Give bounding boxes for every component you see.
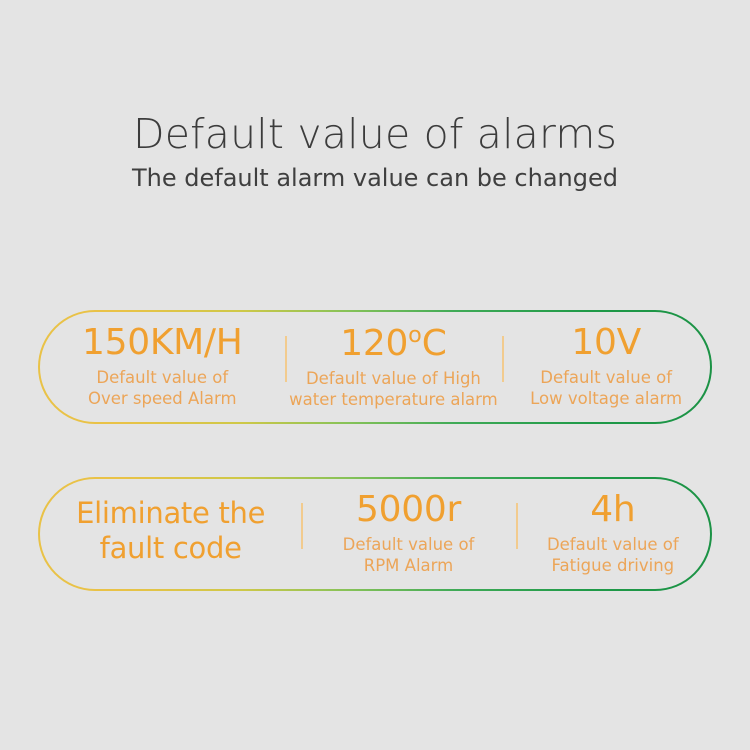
card-alarm-defaults-inner: 150KM/H Default value of Over speed Alar… <box>40 312 710 422</box>
stat-label: Default value of Over speed Alarm <box>88 367 237 409</box>
stat-value: 4h <box>590 491 635 529</box>
page-title: Default value of alarms <box>0 112 750 158</box>
stat-fatigue-driving: 4h Default value of Fatigue driving <box>516 479 710 589</box>
stat-label: Default value of RPM Alarm <box>343 534 475 576</box>
stat-value-text: Eliminate the fault code <box>76 496 265 564</box>
page-root: Default value of alarms The default alar… <box>0 0 750 750</box>
stat-eliminate-fault-code: Eliminate the fault code <box>40 479 301 589</box>
stat-value-unit: C <box>422 323 447 364</box>
stat-high-water-temperature-alarm: 120oC Default value of High water temper… <box>285 312 503 422</box>
stat-value-text: 120 <box>340 323 408 364</box>
stat-value-text: 4h <box>590 489 635 530</box>
stat-label: Default value of High water temperature … <box>289 368 498 410</box>
stat-value: 10V <box>571 324 641 362</box>
card-maintenance-defaults: Eliminate the fault code 5000r Default v… <box>38 477 712 591</box>
stat-label: Default value of Fatigue driving <box>547 534 679 576</box>
stat-over-speed-alarm: 150KM/H Default value of Over speed Alar… <box>40 312 285 422</box>
stat-value-text: 150KM/H <box>82 322 242 363</box>
stat-low-voltage-alarm: 10V Default value of Low voltage alarm <box>502 312 710 422</box>
page-header: Default value of alarms The default alar… <box>0 112 750 193</box>
stat-rpm-alarm: 5000r Default value of RPM Alarm <box>301 479 515 589</box>
stat-value: 5000r <box>356 491 461 529</box>
page-subtitle: The default alarm value can be changed <box>0 164 750 193</box>
stat-label: Default value of Low voltage alarm <box>530 367 682 409</box>
card-maintenance-defaults-inner: Eliminate the fault code 5000r Default v… <box>40 479 710 589</box>
stat-value: Eliminate the fault code <box>40 496 301 566</box>
stat-value-text: 5000r <box>356 489 461 530</box>
stat-value: 150KM/H <box>82 324 242 362</box>
card-alarm-defaults: 150KM/H Default value of Over speed Alar… <box>38 310 712 424</box>
stat-value-text: 10V <box>571 322 641 363</box>
stat-value: 120oC <box>340 324 446 363</box>
degree-icon: o <box>408 322 422 348</box>
